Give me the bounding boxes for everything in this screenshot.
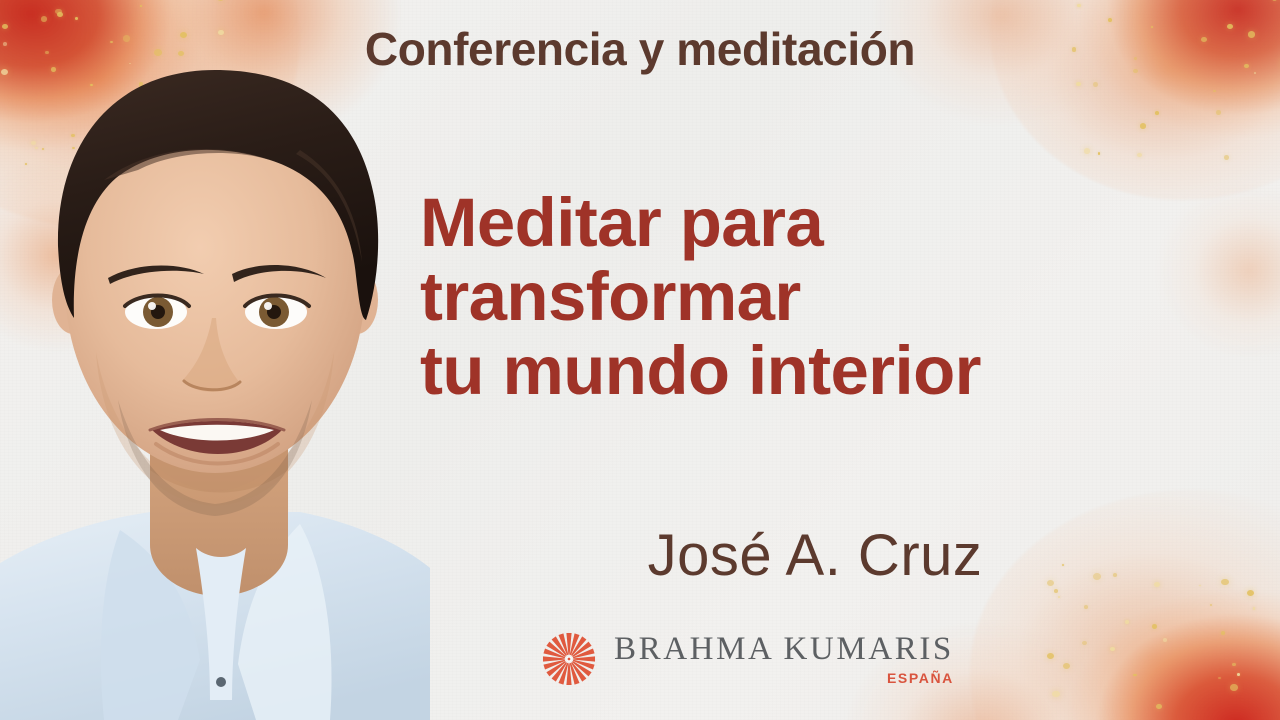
portrait-illustration	[0, 0, 430, 720]
logo-wordmark: BRAHMA KUMARIS	[614, 633, 954, 666]
sunburst-rays-icon	[538, 628, 600, 690]
logo-subtitle: ESPAÑA	[887, 670, 954, 686]
eyebrow-title: Conferencia y meditación	[0, 22, 1280, 76]
brahma-kumaris-logo: BRAHMA KUMARIS ESPAÑA	[538, 628, 954, 690]
speaker-name: José A. Cruz	[420, 522, 1210, 589]
thumbnail-canvas: Conferencia y meditación Meditar para tr…	[0, 0, 1280, 720]
logo-wordmark-block: BRAHMA KUMARIS ESPAÑA	[614, 633, 954, 686]
title-line-1: Meditar para	[420, 186, 1210, 260]
title-line-3: tu mundo interior	[420, 334, 1210, 408]
title-line-2: transformar	[420, 260, 1210, 334]
main-title: Meditar para transformar tu mundo interi…	[420, 186, 1210, 407]
speaker-portrait	[0, 0, 430, 720]
